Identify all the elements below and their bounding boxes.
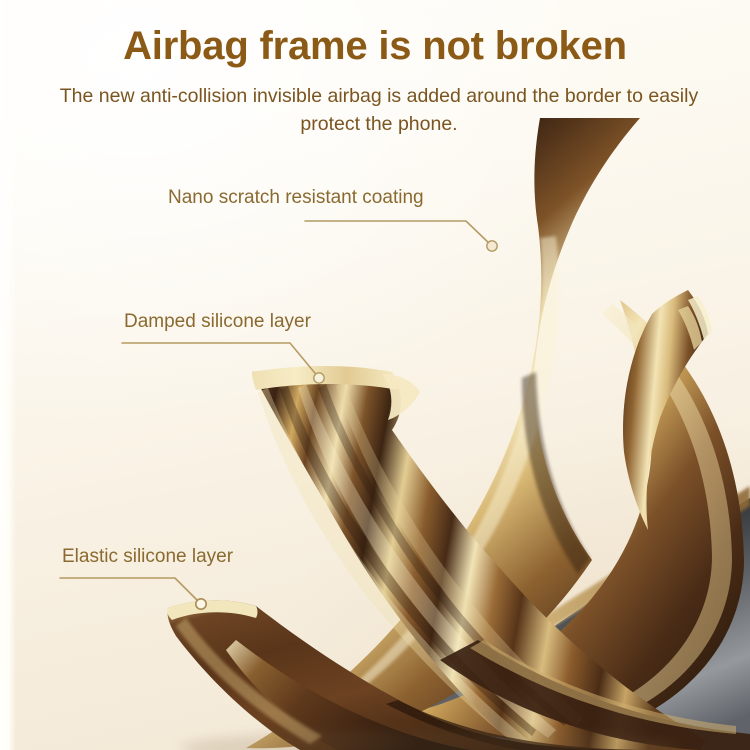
page-title: Airbag frame is not broken [0,24,750,69]
callout-label-damped-silicone: Damped silicone layer [124,312,311,331]
page-subtitle-line-2: protect the phone. [300,113,457,135]
product-feature-image: Airbag frame is not broken The new anti-… [0,0,750,750]
page-subtitle: The new anti-collision invisible airbag … [8,82,750,139]
callout-label-elastic-silicone: Elastic silicone layer [62,547,233,566]
page-subtitle-line-1: The new anti-collision invisible airbag … [60,85,698,107]
callout-label-nano-coating: Nano scratch resistant coating [168,188,424,207]
